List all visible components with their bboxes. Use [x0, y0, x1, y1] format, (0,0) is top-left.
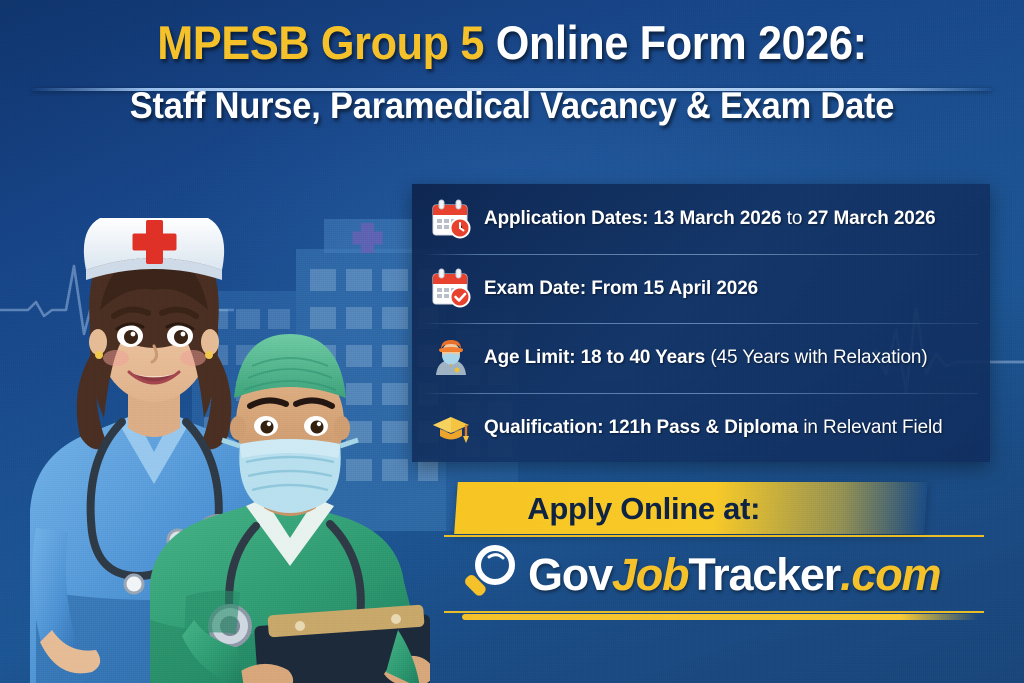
website-logo-bar[interactable]: GovJobTracker.com — [444, 535, 984, 613]
apply-online-banner[interactable]: Apply Online at: — [454, 482, 928, 534]
logo-underline — [462, 614, 978, 620]
medical-staff-illustration — [0, 150, 430, 683]
worker-mask-icon — [428, 335, 474, 381]
logo-text-wrap: GovJobTracker.com — [528, 552, 940, 597]
detail-row-qualification: Qualification: 121h Pass & Diploma in Re… — [412, 393, 990, 463]
detail-note: in Relevant Field — [798, 416, 942, 438]
graduation-cap-icon — [428, 404, 474, 450]
page-title: MPESB Group 5 Online Form 2026: — [41, 0, 983, 69]
detail-label: Qualification: — [484, 416, 604, 438]
title-rest: Online Form 2026: — [496, 16, 867, 69]
detail-connector: to — [782, 207, 808, 229]
detail-value: From 15 April 2026 — [591, 277, 758, 299]
detail-note: (45 Years with Relaxation) — [705, 346, 927, 368]
detail-label: Age Limit: — [484, 346, 576, 368]
logo-part-job: Job — [612, 549, 688, 600]
apply-online-label: Apply Online at: — [456, 482, 926, 527]
calendar-check-icon — [428, 265, 474, 311]
detail-label: Exam Date: — [484, 277, 586, 299]
detail-label: Application Dates: — [484, 207, 648, 229]
detail-row-application-dates: Application Dates: 13 March 2026 to 27 M… — [412, 184, 990, 254]
logo-part-com: .com — [840, 549, 940, 600]
calendar-clock-icon — [428, 196, 474, 242]
page-subtitle: Staff Nurse, Paramedical Vacancy & Exam … — [36, 69, 988, 127]
detail-text-exam-date: Exam Date: From 15 April 2026 — [484, 277, 758, 300]
poster-header: MPESB Group 5 Online Form 2026: Staff Nu… — [0, 0, 1024, 160]
details-panel: Application Dates: 13 March 2026 to 27 M… — [412, 184, 990, 462]
detail-text-age-limit: Age Limit: 18 to 40 Years (45 Years with… — [484, 346, 928, 369]
poster-canvas: MPESB Group 5 Online Form 2026: Staff Nu… — [0, 0, 1024, 683]
title-highlight: MPESB Group 5 — [157, 16, 484, 69]
detail-value: 13 March 2026 — [653, 207, 781, 229]
detail-text-application-dates: Application Dates: 13 March 2026 to 27 M… — [484, 207, 936, 230]
detail-value: 18 to 40 Years — [581, 346, 705, 368]
detail-text-qualification: Qualification: 121h Pass & Diploma in Re… — [484, 416, 943, 439]
logo-part-tracker: Tracker — [688, 549, 840, 600]
detail-value: 121h Pass & Diploma — [609, 416, 798, 438]
magnifier-icon — [462, 541, 522, 608]
detail-row-age-limit: Age Limit: 18 to 40 Years (45 Years with… — [412, 323, 990, 393]
site-name: GovJobTracker.com — [528, 552, 940, 597]
detail-row-exam-date: Exam Date: From 15 April 2026 — [412, 254, 990, 324]
logo-part-gov: Gov — [528, 549, 612, 600]
detail-value-2: 27 March 2026 — [807, 207, 935, 229]
